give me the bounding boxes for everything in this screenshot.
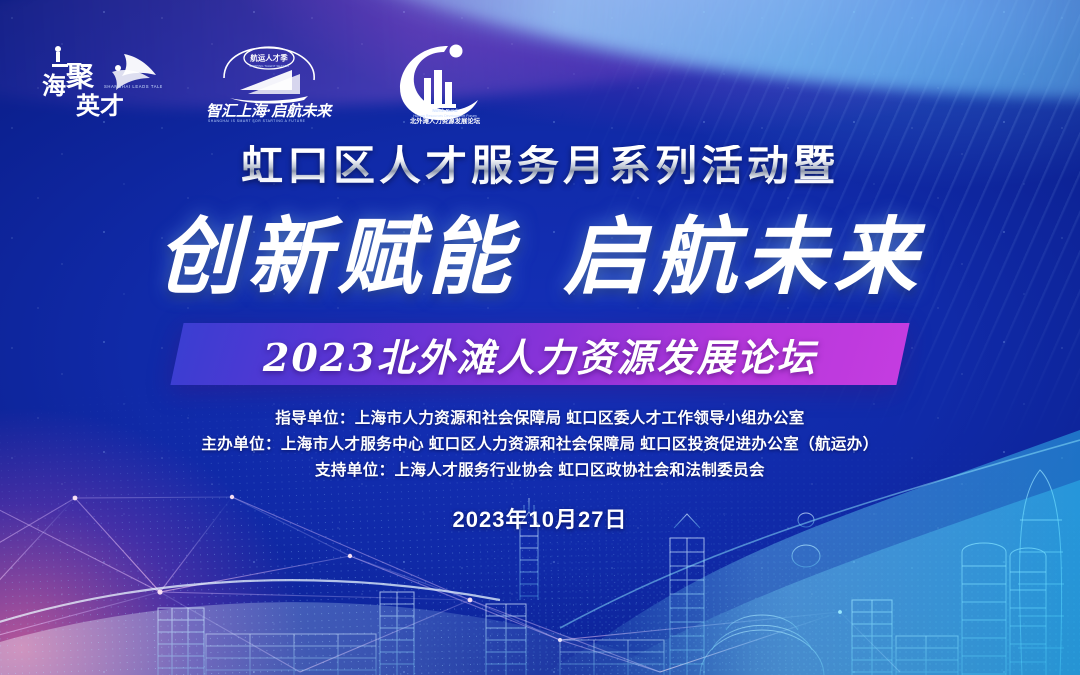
- logo-bar: 海 聚 英 才 SHANGHAI LEADS TALENTS 航运人才季: [32, 42, 500, 124]
- organizer-block: 指导单位：上海市人力资源和社会保障局 虹口区委人才工作领导小组办公室 主办单位：…: [0, 406, 1080, 484]
- slogan-part-left: 创新赋能: [157, 207, 517, 306]
- organizer-line-support: 支持单位：上海人才服务行业协会 虹口区政协社会和法制委员会: [0, 458, 1080, 484]
- logo1-char-ying: 英: [76, 92, 101, 120]
- organizer-line-guidance: 指导单位：上海市人力资源和社会保障局 虹口区委人才工作领导小组办公室: [0, 406, 1080, 432]
- forum-title: 2023北外滩人力资源发展论坛: [263, 327, 817, 382]
- slogan-part-right: 启航未来: [563, 207, 923, 306]
- sailing-ship-icon: 航运人才季 SHIPPING TALENT SEASON 智汇上海·启航未来 S…: [196, 42, 356, 124]
- crescent-tower-icon: North Bund Human Resources Development F…: [390, 42, 500, 124]
- logo1-char-hai: 海: [42, 72, 66, 100]
- logo3-cn: 北外滩人力资源发展论坛: [410, 116, 481, 124]
- event-poster: 海 聚 英 才 SHANGHAI LEADS TALENTS 航运人才季: [0, 0, 1080, 675]
- logo1-char-cai: 才: [100, 92, 124, 120]
- haiju-yingcai-logo: 海 聚 英 才 SHANGHAI LEADS TALENTS: [32, 42, 162, 120]
- logo2-badge-sub: SHIPPING TALENT SEASON: [249, 64, 289, 68]
- main-slogan: 创新赋能启航未来: [0, 212, 1080, 303]
- dove-wing-icon: 海 聚 英 才 SHANGHAI LEADS TALENTS: [32, 42, 162, 120]
- logo2-subtitle: SHANGHAI IS SMART FOR STARTING A FUTURE: [208, 119, 306, 123]
- event-date: 2023年10月27日: [0, 502, 1080, 534]
- page-headline: 虹口区人才服务月系列活动暨: [0, 145, 1080, 187]
- logo2-title: 智汇上海·启航未来: [206, 102, 333, 120]
- logo1-subtitle: SHANGHAI LEADS TALENTS: [104, 84, 162, 89]
- logo2-badge: 航运人才季: [250, 53, 288, 63]
- logo1-char-ju: 聚: [65, 60, 95, 93]
- logo3-en-top: North Bund: [432, 108, 457, 113]
- zhihui-shanghai-logo: 航运人才季 SHIPPING TALENT SEASON 智汇上海·启航未来 S…: [196, 42, 356, 124]
- forum-title-ribbon-wrap: 2023北外滩人力资源发展论坛: [0, 323, 1080, 385]
- forum-title-ribbon: 2023北外滩人力资源发展论坛: [170, 323, 909, 385]
- north-bund-forum-logo: North Bund Human Resources Development F…: [390, 42, 500, 124]
- organizer-line-host: 主办单位：上海市人才服务中心 虹口区人力资源和社会保障局 虹口区投资促进办公室（…: [0, 432, 1080, 458]
